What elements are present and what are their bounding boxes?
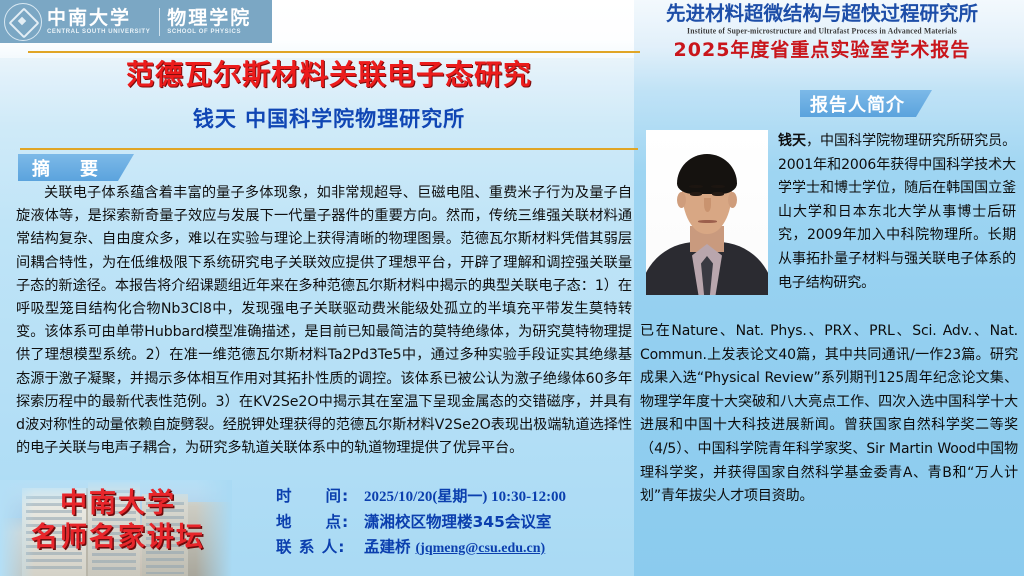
event-time-row: 时 间: 2025/10/20(星期一) 10:30-12:00: [276, 484, 636, 510]
school-name-en: SCHOOL OF PHYSICS: [167, 28, 251, 36]
portrait-mouth: [698, 220, 717, 223]
lecture-series-title: 中南大学 名师名家讲坛: [10, 487, 226, 555]
abstract-section-banner: 摘 要: [18, 154, 134, 181]
event-time-value: 2025/10/20(星期一) 10:30-12:00: [364, 485, 566, 510]
event-contact-email[interactable]: (jqmeng@csu.edu.cn): [416, 536, 546, 561]
event-contact-name: 孟建桥: [364, 535, 411, 560]
event-details: 时 间: 2025/10/20(星期一) 10:30-12:00 地 点: 潇湘…: [276, 484, 636, 561]
event-contact-row: 联 系 人: 孟建桥 (jqmeng@csu.edu.cn): [276, 535, 636, 561]
event-time-label: 时 间:: [276, 484, 364, 509]
bio-section-banner: 报告人简介: [800, 90, 932, 117]
portrait-ear-right: [728, 192, 737, 208]
portrait-nose: [704, 198, 711, 212]
portrait-eye-left: [690, 192, 702, 196]
event-place-row: 地 点: 潇湘校区物理楼345会议室: [276, 510, 636, 535]
university-name-block: 中南大学 CENTRAL SOUTH UNIVERSITY: [47, 8, 150, 36]
gold-divider-top: [28, 51, 640, 53]
school-name-block: 物理学院 SCHOOL OF PHYSICS: [167, 8, 251, 36]
portrait-eye-right: [712, 192, 724, 196]
speaker-bio-top-rest: ，中国科学院物理研究所研究员。2001年和2006年获得中国科学技术大学学士和博…: [778, 133, 1016, 291]
university-logo-band: 中南大学 CENTRAL SOUTH UNIVERSITY 物理学院 SCHOO…: [0, 0, 272, 43]
speaker-bio-text-top: 钱天，中国科学院物理研究所研究员。2001年和2006年获得中国科学技术大学学士…: [778, 130, 1016, 295]
bio-banner-label: 报告人简介: [810, 91, 905, 117]
page-title: 范德瓦尔斯材料关联电子态研究: [20, 58, 638, 92]
university-name-cn: 中南大学: [47, 8, 150, 28]
lecture-series-line1: 中南大学: [10, 487, 226, 521]
logo-divider: [159, 8, 160, 36]
lecture-series-line2: 名师名家讲坛: [10, 521, 226, 555]
institute-name-en: Institute of Super-microstructure and Ul…: [620, 25, 1024, 37]
abstract-body-text: 关联电子体系蕴含着丰富的量子多体现象，如非常规超导、巨磁电阻、重费米子行为及量子…: [16, 182, 632, 460]
speaker-portrait: [646, 130, 768, 295]
portrait-brow-left: [689, 185, 703, 188]
gold-divider-under-title: [20, 148, 638, 150]
university-name-en: CENTRAL SOUTH UNIVERSITY: [47, 28, 150, 36]
seminar-poster: 中南大学 CENTRAL SOUTH UNIVERSITY 物理学院 SCHOO…: [0, 0, 1024, 576]
csu-emblem-icon: [4, 3, 42, 41]
event-place-label: 地 点:: [276, 510, 364, 535]
institute-name-cn: 先进材料超微结构与超快过程研究所: [620, 2, 1024, 26]
institute-header: 先进材料超微结构与超快过程研究所 Institute of Super-micr…: [620, 2, 1024, 62]
abstract-banner-label: 摘 要: [32, 155, 104, 181]
portrait-brow-right: [711, 185, 725, 188]
series-title: 2025年度省重点实验室学术报告: [620, 39, 1024, 62]
speaker-bio-text-rest: 已在Nature、Nat. Phys.、PRX、PRL、Sci. Adv.、Na…: [640, 320, 1018, 509]
portrait-ear-left: [677, 192, 686, 208]
event-place-value: 潇湘校区物理楼345会议室: [364, 510, 551, 535]
event-contact-label: 联 系 人:: [276, 535, 364, 560]
speaker-affiliation-line: 钱天 中国科学院物理研究所: [20, 106, 638, 132]
school-name-cn: 物理学院: [167, 8, 251, 28]
speaker-name: 钱天: [778, 133, 806, 149]
